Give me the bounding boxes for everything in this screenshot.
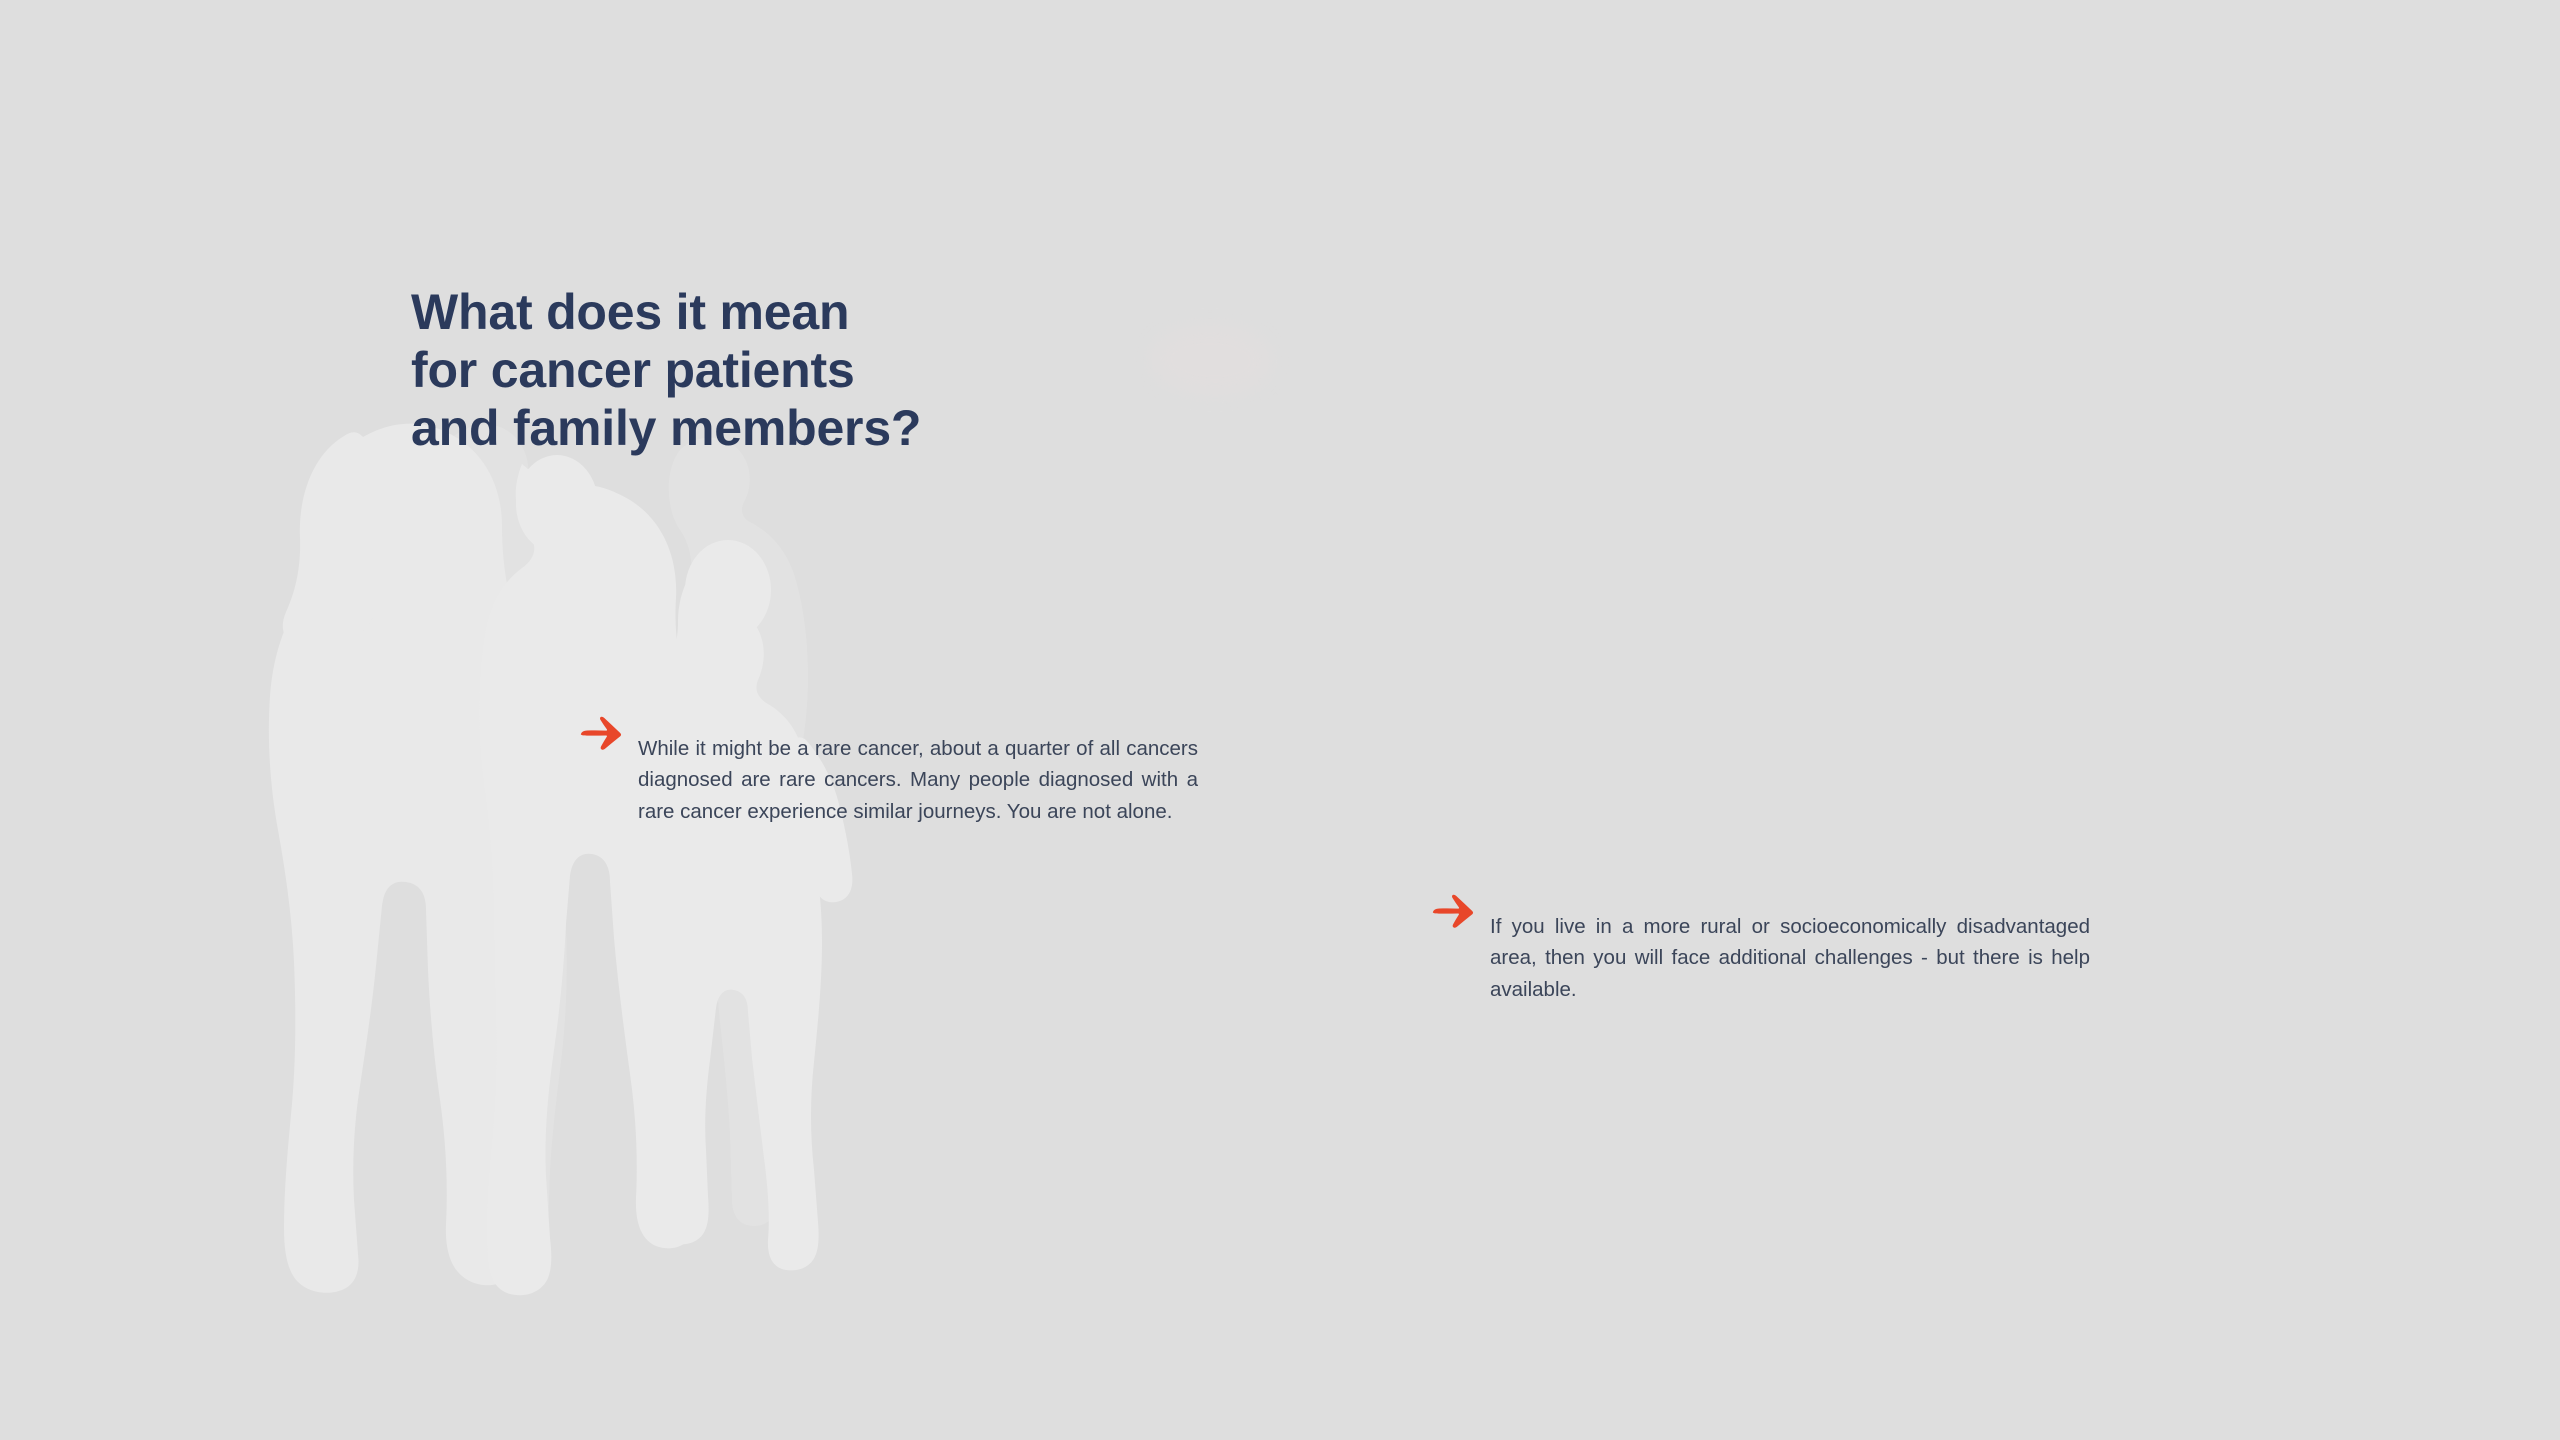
arrow-right-icon — [578, 716, 624, 750]
family-silhouette-group — [250, 410, 970, 1310]
callout-text-1: While it might be a rare cancer, about a… — [638, 733, 1198, 828]
slide-canvas: What does it mean for cancer patients an… — [0, 0, 2560, 1440]
arrow-right-icon — [1430, 894, 1476, 928]
silhouette-adult-center-head — [516, 455, 598, 553]
callout-text-2: If you live in a more rural or socioecon… — [1490, 911, 2090, 1006]
silhouette-child-front — [641, 548, 822, 1271]
silhouette-woman-hair — [283, 432, 387, 647]
silhouette-back-adult — [435, 425, 579, 1256]
silhouette-woman-front — [269, 424, 534, 1293]
silhouette-child-head — [685, 540, 771, 640]
page-title: What does it mean for cancer patients an… — [411, 283, 1311, 457]
silhouette-adult-center — [480, 464, 701, 1295]
callout-block-1: While it might be a rare cancer, about a… — [578, 712, 1198, 848]
callout-block-2: If you live in a more rural or socioecon… — [1430, 890, 2090, 1026]
